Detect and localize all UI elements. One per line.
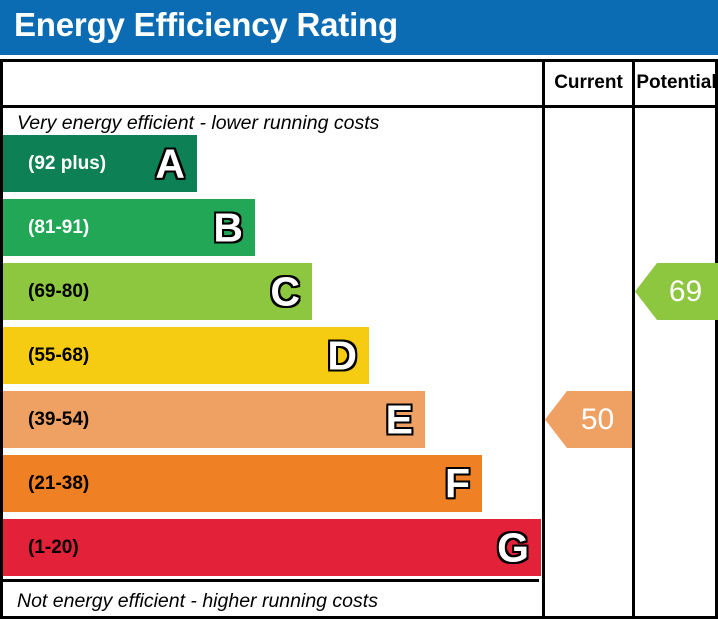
band-letter-g: G <box>497 527 529 568</box>
page-title: Energy Efficiency Rating <box>14 6 398 44</box>
band-range-d: (55-68) <box>28 345 89 367</box>
band-range-b: (81-91) <box>28 217 89 239</box>
current-column-divider <box>542 62 545 616</box>
band-bar-a: (92 plus)A <box>3 135 197 192</box>
potential-rating-value: 69 <box>669 277 702 307</box>
band-range-c: (69-80) <box>28 281 89 303</box>
band-bar-e: (39-54)E <box>3 391 425 448</box>
band-bar-d: (55-68)D <box>3 327 369 384</box>
band-range-g: (1-20) <box>28 537 79 559</box>
band-letter-d: D <box>327 335 357 376</box>
band-letter-f: F <box>445 463 470 504</box>
band-letter-e: E <box>386 399 413 440</box>
band-letter-a: A <box>155 143 185 184</box>
chart-title-bar: Energy Efficiency Rating <box>0 0 718 55</box>
potential-column-divider <box>632 62 635 616</box>
band-bar-b: (81-91)B <box>3 199 255 256</box>
current-rating-marker: 50 <box>545 391 632 448</box>
band-range-e: (39-54) <box>28 409 89 431</box>
band-bars: (92 plus)A(81-91)B(69-80)C(55-68)D(39-54… <box>3 62 542 616</box>
chart-table: Current Potential Very energy efficient … <box>0 59 718 619</box>
band-bar-f: (21-38)F <box>3 455 482 512</box>
energy-efficiency-rating-chart: Energy Efficiency Rating Current Potenti… <box>0 0 718 619</box>
band-range-a: (92 plus) <box>28 153 106 175</box>
band-bar-c: (69-80)C <box>3 263 312 320</box>
potential-rating-marker: 69 <box>635 263 718 320</box>
band-letter-c: C <box>270 271 300 312</box>
band-range-f: (21-38) <box>28 473 89 495</box>
column-header-current: Current <box>545 72 632 94</box>
column-header-potential: Potential <box>635 72 718 94</box>
current-rating-value: 50 <box>581 405 614 435</box>
band-bar-g: (1-20)G <box>3 519 541 576</box>
band-letter-b: B <box>213 207 243 248</box>
